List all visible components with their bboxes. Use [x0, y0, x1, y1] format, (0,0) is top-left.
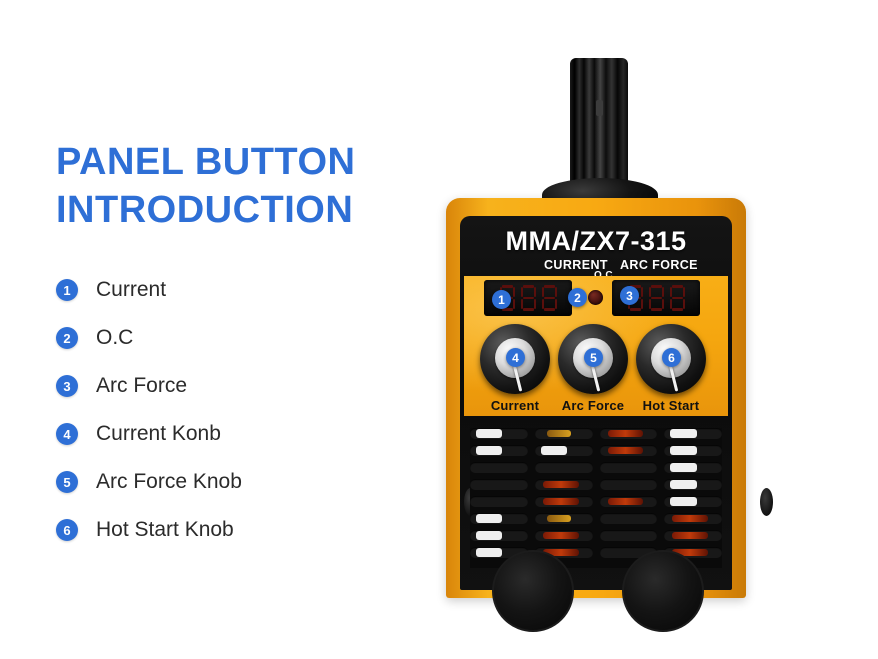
legend-label-5: Arc Force Knob	[96, 470, 242, 494]
page-title-line-2: INTRODUCTION	[56, 186, 416, 234]
output-socket-left[interactable]	[492, 550, 574, 632]
vent-slot	[470, 428, 528, 439]
photo-marker-2: 2	[568, 288, 587, 307]
legend-label-3: Arc Force	[96, 374, 187, 398]
model-name: MMA/ZX7-315	[446, 226, 746, 257]
legend-bullet-1: 1	[56, 279, 78, 301]
vent-slot	[470, 513, 528, 524]
vent-row	[470, 428, 722, 439]
legend-bullet-6: 6	[56, 519, 78, 541]
vent-slot	[664, 428, 722, 439]
vent-row	[470, 462, 722, 473]
vent-slot	[600, 530, 658, 541]
product-photo: MMA/ZX7-315 CURRENT O.C ARC FORCE	[418, 40, 868, 620]
photo-marker-4: 4	[506, 348, 525, 367]
vent-slot	[664, 496, 722, 507]
knob-label-arc-force: Arc Force	[551, 398, 635, 413]
vent-row	[470, 530, 722, 541]
vent-slot	[664, 462, 722, 473]
info-column: PANEL BUTTON INTRODUCTION 1 Current 2 O.…	[56, 138, 416, 554]
legend-label-2: O.C	[96, 326, 133, 350]
legend-label-1: Current	[96, 278, 166, 302]
legend-bullet-3: 3	[56, 375, 78, 397]
legend-label-6: Hot Start Knob	[96, 518, 234, 542]
vent-slot	[664, 479, 722, 490]
page-title-line-1: PANEL BUTTON	[56, 138, 416, 186]
vent-slot	[535, 428, 593, 439]
vent-slot	[535, 462, 593, 473]
vent-slot	[664, 530, 722, 541]
vent-row	[470, 479, 722, 490]
vent-row	[470, 496, 722, 507]
knob-label-current: Current	[473, 398, 557, 413]
output-socket-right[interactable]	[622, 550, 704, 632]
vent-row	[470, 513, 722, 524]
legend-bullet-2: 2	[56, 327, 78, 349]
list-item: 1 Current	[56, 266, 416, 314]
list-item: 6 Hot Start Knob	[56, 506, 416, 554]
legend-list: 1 Current 2 O.C 3 Arc Force 4 Current Ko…	[56, 266, 416, 554]
list-item: 3 Arc Force	[56, 362, 416, 410]
legend-bullet-5: 5	[56, 471, 78, 493]
vent-slot	[470, 530, 528, 541]
vent-slot	[535, 445, 593, 456]
vent-grille	[470, 428, 722, 568]
vent-slot	[535, 513, 593, 524]
vent-slot	[535, 479, 593, 490]
vent-slot	[664, 513, 722, 524]
legend-label-4: Current Konb	[96, 422, 221, 446]
knob-label-hot-start: Hot Start	[629, 398, 713, 413]
seven-segment-digit	[669, 285, 686, 311]
seven-segment-digit	[520, 285, 537, 311]
welder-case: MMA/ZX7-315 CURRENT O.C ARC FORCE	[446, 198, 746, 598]
vent-slot	[470, 462, 528, 473]
vent-slot	[470, 496, 528, 507]
oc-indicator	[588, 290, 603, 305]
vent-slot	[600, 428, 658, 439]
photo-marker-1: 1	[492, 290, 511, 309]
vent-slot	[600, 479, 658, 490]
vent-slot	[600, 462, 658, 473]
legend-bullet-4: 4	[56, 423, 78, 445]
vent-slot	[470, 445, 528, 456]
vent-slot	[535, 530, 593, 541]
vent-slot	[664, 445, 722, 456]
photo-marker-3: 3	[620, 286, 639, 305]
vent-slot	[600, 496, 658, 507]
list-item: 2 O.C	[56, 314, 416, 362]
vent-row	[470, 445, 722, 456]
vent-slot	[600, 445, 658, 456]
seven-segment-digit	[541, 285, 558, 311]
photo-marker-5: 5	[584, 348, 603, 367]
list-item: 4 Current Konb	[56, 410, 416, 458]
list-item: 5 Arc Force Knob	[56, 458, 416, 506]
vent-slot	[470, 479, 528, 490]
page-title: PANEL BUTTON INTRODUCTION	[56, 138, 416, 234]
rubber-foot-right	[760, 488, 773, 516]
header-label-arc-force: ARC FORCE	[620, 258, 698, 272]
vent-slot	[535, 496, 593, 507]
vent-slot	[600, 513, 658, 524]
seven-segment-digit	[648, 285, 665, 311]
carry-handle	[570, 58, 628, 198]
photo-marker-6: 6	[662, 348, 681, 367]
